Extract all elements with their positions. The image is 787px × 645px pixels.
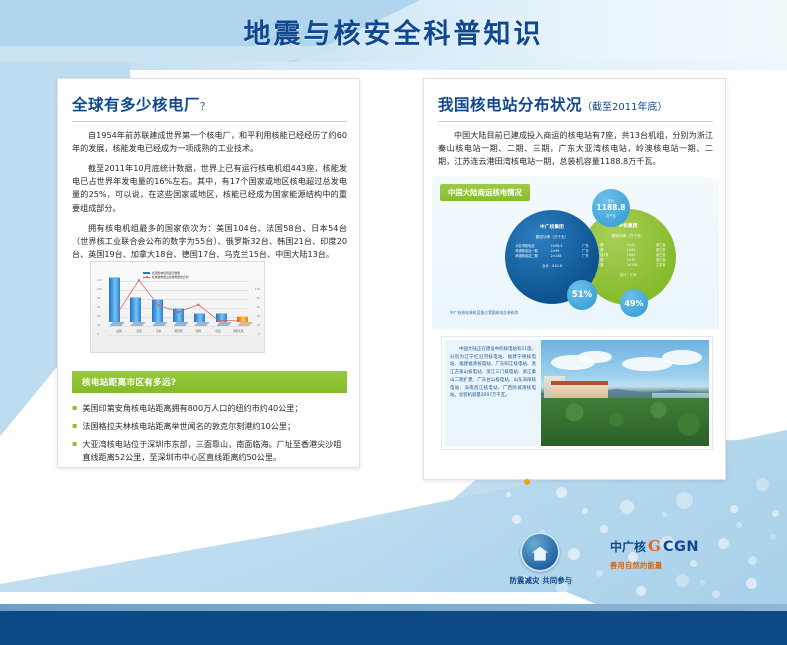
plant-capacity: 2×108 — [551, 254, 571, 259]
footer-logo-zone: 防震减灾 共同参与 中广核 G CGN 善用自然的能量 — [500, 532, 740, 590]
cgn-logo: 中广核 G CGN 善用自然的能量 — [610, 538, 699, 571]
list-item: ▪ 美国印第安角核电站距离拥有800万人口的纽约市约40公里； — [72, 402, 347, 415]
right-content-card: 我国核电站分布状况（截至2011年底） 中国大陆目前已建成投入商运的核电站有7座… — [423, 78, 726, 480]
distance-section-banner: 核电站距离市区有多远? — [72, 371, 347, 393]
list-item: ▪ 法国格拉夫林核电站距离举世闻名的敦克尔刻港约10公里； — [72, 420, 347, 433]
cnnc-plant-table: 秦山一期 1×31 浙江省 秦山二期 2×65 浙江省 二期扩建1号 1×65 — [591, 243, 666, 268]
infographic-tag: 中国大陆商运核电情况 — [440, 184, 530, 201]
bullet-dot-icon: ▪ — [72, 402, 77, 415]
right-section-title-sub: （截至2011年底） — [582, 102, 667, 113]
chart-y-tick: 20 — [97, 325, 100, 328]
cloud-shape — [578, 351, 612, 364]
chart-y-tick: 0 — [97, 334, 99, 337]
chart-y2-tick: 100 — [255, 289, 260, 292]
chart-legend-item-line: 核电发电量占总发电量的比例 — [143, 275, 188, 279]
logo2-caption: 善用自然的能量 — [610, 561, 699, 571]
left-title-divider — [72, 121, 347, 122]
cgn-swirl-icon: G — [648, 539, 661, 554]
plant-capacity: 2×106 — [627, 263, 647, 268]
cgn-plant-table: 大亚湾核电站 2×98.4 广东 岭澳核电站一期 2×99 广东 岭澳核电站二期… — [515, 244, 588, 259]
bullet-dot-icon: ▪ — [72, 438, 77, 464]
total-value: 1188.8 — [597, 204, 626, 212]
nuclear-reactor-bar-chart: 002020404060608080100100120美国法国日本俄罗斯韩国印度… — [90, 261, 265, 353]
chart-y2-tick: 80 — [257, 298, 260, 301]
cgn-logo-cn: 中广核 — [610, 538, 646, 555]
infographic-caption: 中广核核电装机容量占我国核电总装机的 — [450, 310, 518, 316]
earthquake-prevention-logo: 防震减灾 共同参与 — [520, 532, 560, 572]
chart-y-tick: 80 — [97, 298, 100, 301]
left-content-card: 全球有多少核电厂？ 自1954年前苏联建成世界第一个核电厂，和平利用核能已经经历… — [57, 78, 360, 468]
left-section-title-mark: ？ — [200, 102, 210, 113]
right-section-title-text: 我国核电站分布状况 — [438, 96, 582, 114]
chart-legend: 各国核电机组运行数量 核电发电量占总发电量的比例 — [143, 271, 188, 279]
page-title: 地震与核安全科普知识 — [0, 0, 787, 62]
right-title-divider — [438, 121, 713, 122]
plant-location: 广东 — [573, 254, 588, 259]
list-item: ▪ 大亚湾核电站位于深圳市东部，三面靠山，南面临海。厂址至香港尖沙咀直线距离52… — [72, 438, 347, 464]
chart-y2-tick: 0 — [258, 334, 260, 337]
cgn-subtitle: 额定功率（万千瓦） — [536, 235, 568, 240]
poster-root: 地震与核安全科普知识 全球有多少核电厂？ 自1954年前苏联建成世界第一个核电厂… — [0, 0, 787, 645]
chart-y-tick: 100 — [97, 289, 102, 292]
bullet-text: 大亚湾核电站位于深圳市东部，三面靠山，南面临海。厂址至香港尖沙咀直线距离52公里… — [82, 438, 347, 464]
chart-y-tick: 40 — [97, 316, 100, 319]
left-paragraph-1: 自1954年前苏联建成世界第一个核电厂，和平利用核能已经经历了约60年的发展，核… — [72, 129, 347, 155]
bullet-text: 法国格拉夫林核电站距离举世闻名的敦克尔刻港约10公里； — [82, 420, 295, 433]
chart-y2-tick: 20 — [257, 325, 260, 328]
orange-dot-marker — [524, 479, 530, 485]
left-paragraph-2: 截至2011年10月底统计数据，世界上已有运行核电机组443座，核能发电已占世界… — [72, 162, 347, 214]
left-paragraph-3: 拥有核电机组最多的国家依次为：美国104台、法国58台、日本54台（世界核工业联… — [72, 222, 347, 261]
cnnc-sum: 合计：578 — [620, 272, 637, 277]
total-unit: 万千瓦 — [606, 213, 616, 218]
cnnc-percent-badge: 49% — [620, 289, 648, 317]
cnnc-subtitle: 额定功率（万千瓦） — [612, 234, 644, 239]
under-construction-photo-block: 中国大陆正在建设中的核电站有11座，分别为辽宁红沿河核电站、福建宁德核电站、福建… — [442, 337, 712, 449]
plant-name: 岭澳核电站二期 — [515, 254, 547, 259]
chart-y2-tick: 40 — [257, 316, 260, 319]
logo1-caption: 防震减灾 共同参与 — [502, 576, 580, 586]
chart-y-tick: 60 — [97, 307, 100, 310]
legend-swatch-bar — [143, 272, 150, 275]
total-capacity-circle: 合计 1188.8 万千瓦 — [592, 189, 630, 227]
shield-house-icon — [520, 532, 560, 572]
distance-bullet-list: ▪ 美国印第安角核电站距离拥有800万人口的纽约市约40公里； ▪ 法国格拉夫林… — [72, 402, 347, 464]
photo-caption-text: 中国大陆正在建设中的核电站有11座，分别为辽宁红沿河核电站、福建宁德核电站、福建… — [445, 340, 541, 446]
table-row: 岭澳核电站二期 2×108 广东 — [515, 254, 588, 259]
cgn-logo-en: CGN — [663, 539, 699, 555]
left-section-title: 全球有多少核电厂？ — [72, 93, 347, 115]
chart-y-tick: 120 — [97, 280, 102, 283]
left-section-title-text: 全球有多少核电厂 — [72, 96, 200, 114]
plant-location: 江苏省 — [650, 263, 666, 268]
bullet-text: 美国印第安角核电站距离拥有800万人口的纽约市约40公里； — [82, 402, 302, 415]
right-section-title: 我国核电站分布状况（截至2011年底） — [438, 93, 713, 115]
cgn-percent-badge: 51% — [567, 280, 597, 310]
legend-label-line: 核电发电量占总发电量的比例 — [152, 275, 188, 279]
nuclear-plant-photo — [541, 340, 709, 446]
cgn-sum: 合计：610.8 — [542, 263, 562, 268]
plant-building-roof — [551, 381, 608, 384]
table-row: 田湾一期 2×106 江苏省 — [591, 263, 666, 268]
footer-dark-bar — [0, 611, 787, 645]
page-header: 地震与核安全科普知识 — [0, 0, 787, 62]
cgn-name: 中广核集团 — [540, 224, 564, 230]
cloud-shape — [662, 350, 702, 366]
cgn-logo-row: 中广核 G CGN — [610, 538, 699, 555]
bullet-dot-icon: ▪ — [72, 420, 77, 433]
forest-foreground — [541, 398, 709, 446]
legend-swatch-line — [143, 277, 150, 278]
right-paragraph: 中国大陆目前已建成投入商运的核电站有7座，共13台机组，分别为浙江秦山核电站一期… — [438, 129, 713, 168]
chart-y2-tick: 60 — [257, 307, 260, 310]
nuclear-distribution-infographic: 中国大陆商运核电情况 中核集团 额定功率（万千瓦） 秦山一期 1×31 浙江省 … — [432, 177, 719, 329]
footer-light-bar — [0, 604, 787, 611]
